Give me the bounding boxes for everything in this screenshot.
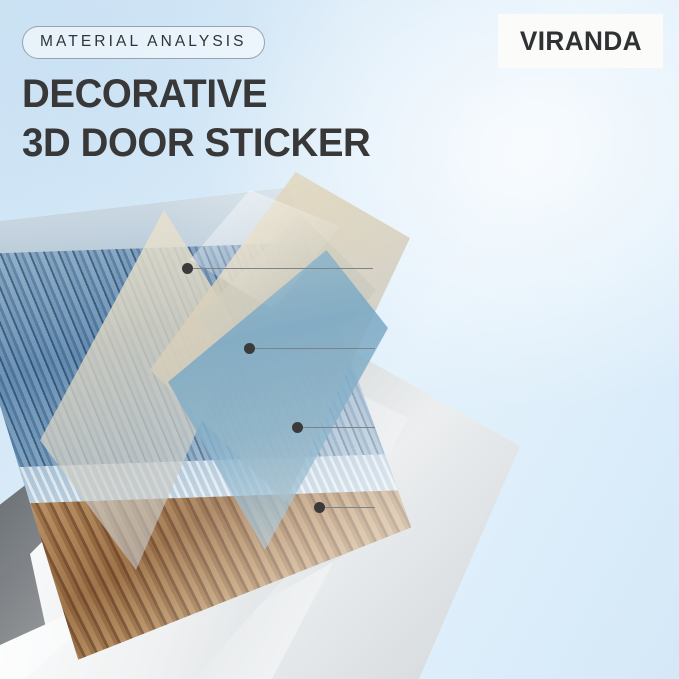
callout-leader-4 <box>325 507 375 508</box>
brand-logo-text: VIRANDA <box>519 26 641 57</box>
product-infographic: MATERIAL ANALYSIS DECORATIVE 3D DOOR STI… <box>0 0 679 679</box>
callout-leader-3 <box>303 427 375 428</box>
callout-dot-1 <box>182 263 193 274</box>
callout-dot-2 <box>244 343 255 354</box>
title-line-2: 3D DOOR STICKER <box>22 119 370 168</box>
callout-leader-1 <box>193 268 373 269</box>
brand-logo: VIRANDA <box>498 14 663 68</box>
title-line-1: DECORATIVE <box>22 72 267 116</box>
page-title: DECORATIVE 3D DOOR STICKER <box>22 70 370 168</box>
material-analysis-badge: MATERIAL ANALYSIS <box>22 26 265 59</box>
callout-dot-4 <box>314 502 325 513</box>
sticker-artwork <box>0 180 679 679</box>
callout-leader-2 <box>255 348 375 349</box>
callout-dot-3 <box>292 422 303 433</box>
